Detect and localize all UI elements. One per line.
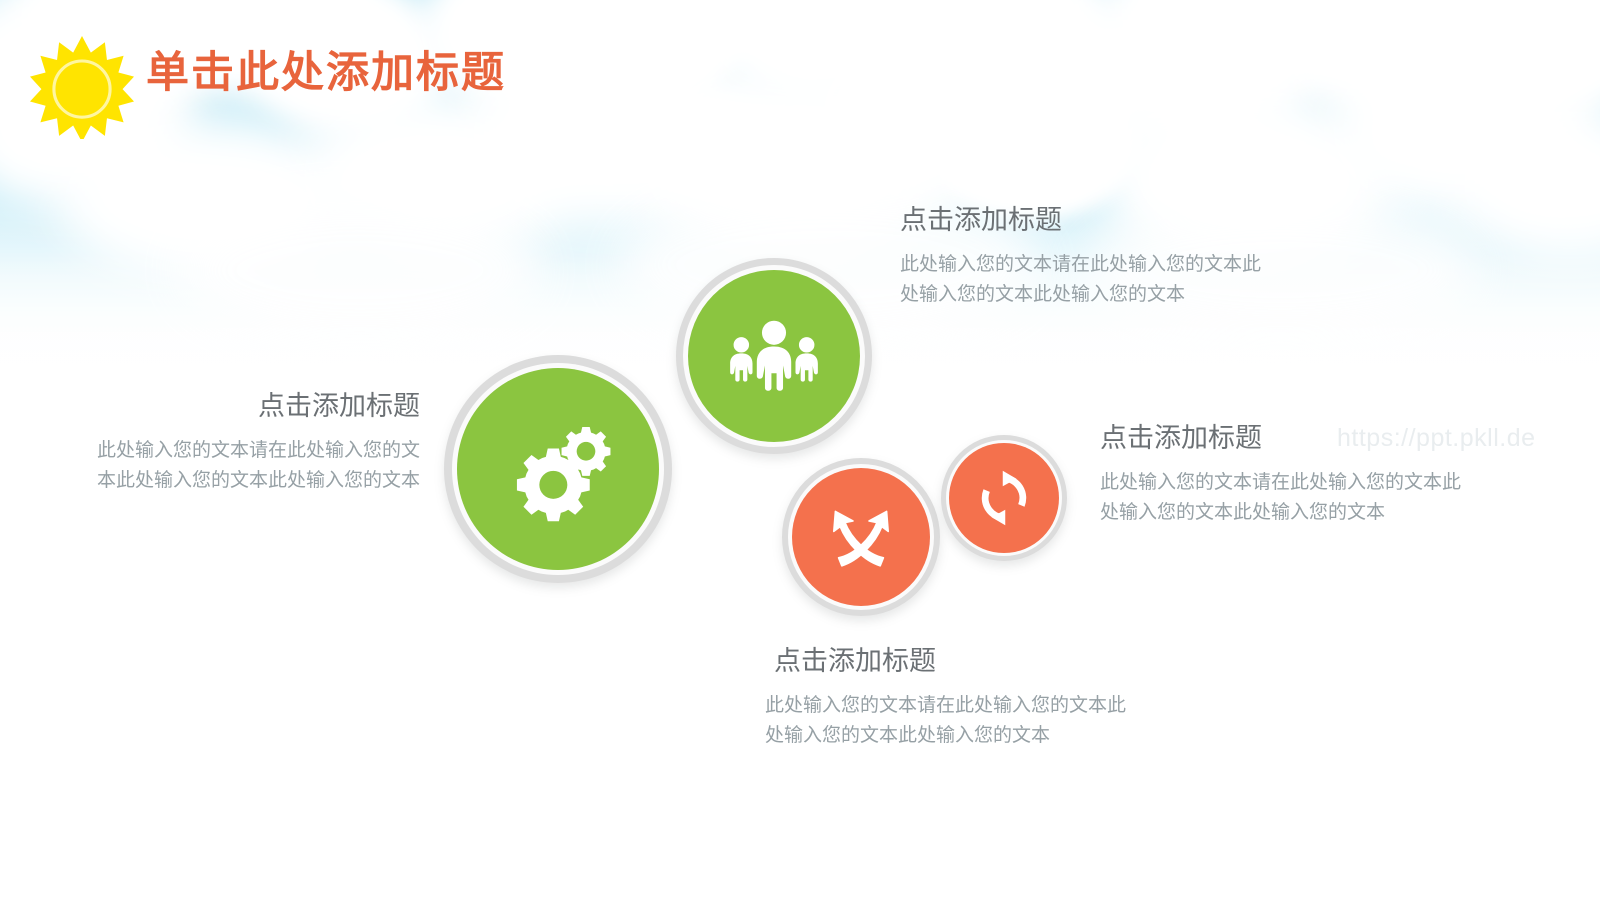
node-circle-gears[interactable]: [444, 355, 672, 583]
text-block-body: 此处输入您的文本请在此处输入您的文本此 处输入您的文本此处输入您的文本: [765, 691, 1185, 750]
text-block-bottom: 点击添加标题 此处输入您的文本请在此处输入您的文本此 处输入您的文本此处输入您的…: [765, 645, 1185, 750]
body-line: 此处输入您的文本请在此处输入您的文: [60, 436, 420, 465]
node-gap-ring: [788, 464, 934, 610]
body-line: 本此处输入您的文本此处输入您的文本: [60, 466, 420, 495]
sun-icon: [30, 35, 134, 139]
node-circle-shuffle[interactable]: [782, 458, 940, 616]
text-block-body: 此处输入您的文本请在此处输入您的文本此 处输入您的文本此处输入您的文本: [900, 250, 1320, 309]
slide-header: 单击此处添加标题: [0, 0, 1600, 170]
node-core-people: [688, 270, 860, 442]
refresh-cycle-icon: [973, 467, 1035, 529]
body-line: 处输入您的文本此处输入您的文本: [1100, 498, 1520, 527]
body-line: 此处输入您的文本请在此处输入您的文本此: [1100, 468, 1520, 497]
node-gap-ring: [683, 265, 865, 447]
node-gap-ring: [946, 440, 1062, 556]
body-line: 处输入您的文本此处输入您的文本: [765, 721, 1185, 750]
text-block-heading: 点击添加标题: [60, 390, 420, 422]
gears-icon: [502, 413, 614, 525]
node-gap-ring: [452, 363, 664, 575]
people-group-icon: [722, 313, 826, 399]
page-title: 单击此处添加标题: [146, 50, 506, 97]
text-block-top: 点击添加标题 此处输入您的文本请在此处输入您的文本此 处输入您的文本此处输入您的…: [900, 204, 1320, 309]
text-block-heading: 点击添加标题: [900, 204, 1320, 236]
shuffle-arrows-icon: [821, 497, 901, 577]
text-block-body: 此处输入您的文本请在此处输入您的文本此 处输入您的文本此处输入您的文本: [1100, 468, 1520, 527]
node-core-gears: [457, 368, 659, 570]
text-block-heading: 点击添加标题: [765, 645, 945, 677]
node-core-refresh: [949, 443, 1059, 553]
node-circle-refresh[interactable]: [941, 435, 1067, 561]
body-line: 此处输入您的文本请在此处输入您的文本此: [900, 250, 1320, 279]
slide-canvas: 单击此处添加标题: [0, 0, 1600, 900]
text-block-body: 此处输入您的文本请在此处输入您的文 本此处输入您的文本此处输入您的文本: [60, 436, 420, 495]
node-circle-people[interactable]: [676, 258, 872, 454]
body-line: 处输入您的文本此处输入您的文本: [900, 280, 1320, 309]
body-line: 此处输入您的文本请在此处输入您的文本此: [765, 691, 1185, 720]
node-core-shuffle: [792, 468, 930, 606]
text-block-left: 点击添加标题 此处输入您的文本请在此处输入您的文 本此处输入您的文本此处输入您的…: [60, 390, 420, 495]
watermark-url: https://ppt.pkll.de: [1337, 424, 1536, 453]
